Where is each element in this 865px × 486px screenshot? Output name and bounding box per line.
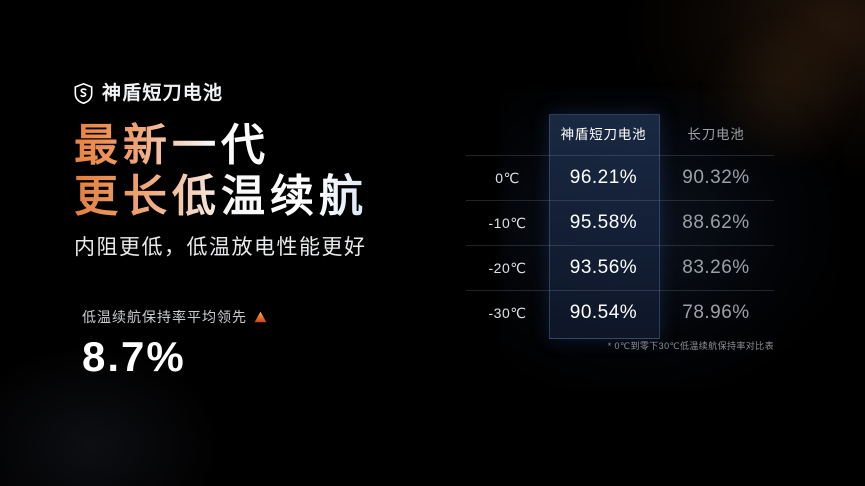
slide-root: 神盾短刀电池 最新一代 更长低温续航 内阻更低，低温放电性能更好 低温续航保持率… [0, 0, 865, 486]
cell-other-value: 90.32% [658, 156, 774, 201]
cell-temperature: 0℃ [466, 156, 549, 201]
stat-label: 低温续航保持率平均领先 [82, 310, 247, 324]
shield-s-icon [74, 83, 93, 104]
column-header-other-battery: 长刀电池 [658, 110, 774, 156]
comparison-table-wrap: 神盾短刀电池 长刀电池 0℃ 96.21% 90.32% -10℃ 95.58%… [466, 110, 774, 336]
stat-block: 低温续航保持率平均领先 8.7% [82, 310, 412, 378]
cell-main-value: 96.21% [549, 156, 658, 201]
left-content-panel: 神盾短刀电池 最新一代 更长低温续航 内阻更低，低温放电性能更好 [74, 80, 454, 260]
cell-temperature: -10℃ [466, 201, 549, 246]
cell-other-value: 83.26% [658, 246, 774, 291]
up-triangle-icon [254, 311, 267, 323]
cell-temperature: -30℃ [466, 291, 549, 336]
table-row: -20℃ 93.56% 83.26% [466, 246, 774, 291]
stat-value: 8.7% [82, 336, 412, 378]
table-row: -10℃ 95.58% 88.62% [466, 201, 774, 246]
cell-main-value: 93.56% [549, 246, 658, 291]
table-body: 0℃ 96.21% 90.32% -10℃ 95.58% 88.62% -20℃… [466, 156, 774, 336]
table-row: 0℃ 96.21% 90.32% [466, 156, 774, 201]
cell-other-value: 88.62% [658, 201, 774, 246]
table-header-row: 神盾短刀电池 长刀电池 [466, 110, 774, 156]
column-header-temperature [466, 110, 549, 156]
headline-line-2: 更长低温续航 [74, 171, 454, 222]
headline-subtitle: 内阻更低，低温放电性能更好 [74, 235, 454, 260]
brand-name: 神盾短刀电池 [102, 84, 223, 103]
brand-lockup: 神盾短刀电池 [74, 80, 454, 106]
cell-main-value: 90.54% [549, 291, 658, 336]
headline-line-1: 最新一代 [74, 120, 454, 171]
column-header-main-battery: 神盾短刀电池 [549, 110, 658, 156]
table-row: -30℃ 90.54% 78.96% [466, 291, 774, 336]
cell-other-value: 78.96% [658, 291, 774, 336]
headline-block: 最新一代 更长低温续航 内阻更低，低温放电性能更好 [74, 120, 454, 260]
cell-temperature: -20℃ [466, 246, 549, 291]
comparison-table: 神盾短刀电池 长刀电池 0℃ 96.21% 90.32% -10℃ 95.58%… [466, 110, 774, 336]
cell-main-value: 95.58% [549, 201, 658, 246]
stat-label-row: 低温续航保持率平均领先 [82, 310, 412, 324]
table-header: 神盾短刀电池 长刀电池 [466, 110, 774, 156]
table-footnote: * 0℃到零下30℃低温续航保持率对比表 [466, 341, 774, 352]
